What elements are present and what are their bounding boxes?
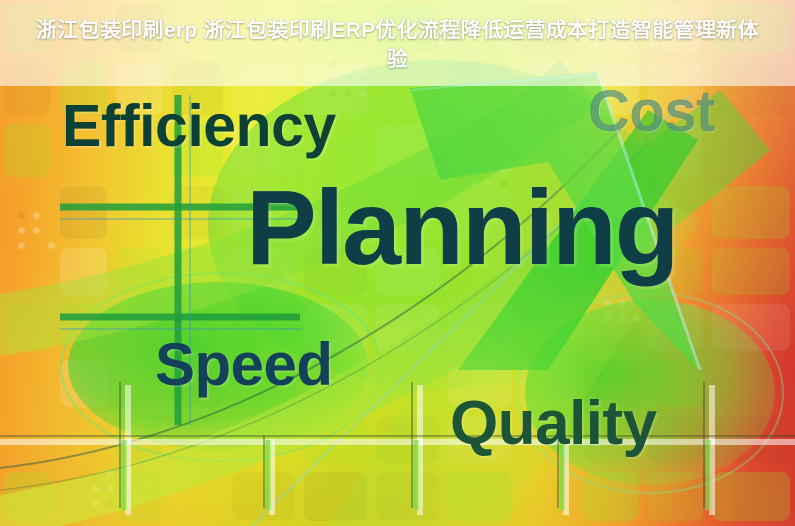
word-speed: Speed bbox=[155, 330, 333, 399]
page-title: 浙江包装印刷erp 浙江包装印刷ERP优化流程降低运营成本打造智能管理新体验 bbox=[0, 0, 795, 86]
word-quality: Quality bbox=[450, 388, 657, 459]
image-canvas: Cost Efficiency Planning Speed Quality 浙… bbox=[0, 0, 795, 526]
word-efficiency: Efficiency bbox=[62, 92, 336, 160]
word-planning: Planning bbox=[246, 168, 678, 289]
word-cost: Cost bbox=[588, 78, 715, 145]
org-chart-diagram-icon bbox=[0, 380, 795, 526]
